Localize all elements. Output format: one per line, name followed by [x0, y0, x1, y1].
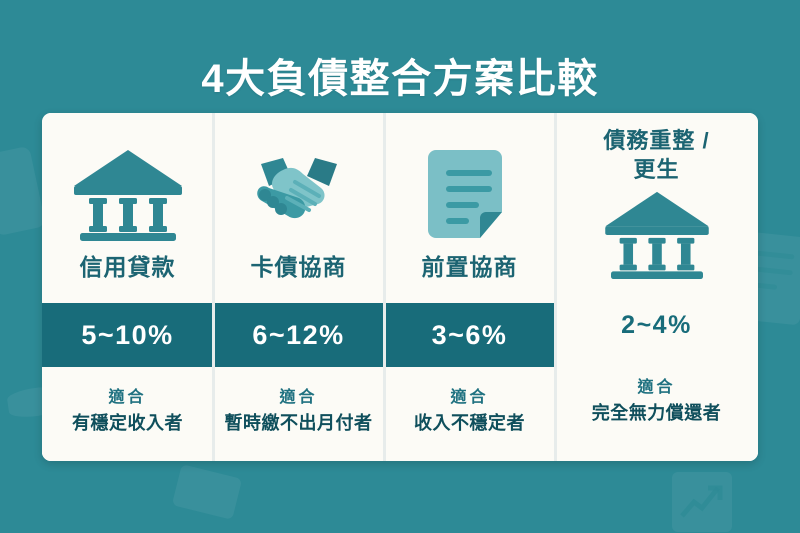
column-label-line1: 債務重整 / [603, 127, 709, 156]
column-label-line2: 更生 [603, 156, 709, 185]
column-header: 前置協商 [384, 113, 555, 303]
suitability-lead: 適合 [637, 376, 675, 400]
column-footer: 適合 完全無力償還者 [555, 347, 758, 461]
bank-icon [599, 186, 715, 282]
interest-rate-band: 6~12% [213, 303, 384, 367]
column-label: 信用貸款 [80, 254, 176, 280]
column-header: 信用貸款 [42, 113, 213, 303]
column-header: 卡債協商 [213, 113, 384, 303]
infographic-canvas: 4大負債整合方案比較 [0, 0, 800, 533]
interest-rate-band: 5~10% [42, 303, 213, 367]
card-watermark-icon [171, 463, 244, 521]
column-footer: 適合 收入不穩定者 [384, 367, 555, 461]
column-footer: 適合 有穩定收入者 [42, 367, 213, 461]
suitability-target: 有穩定收入者 [72, 410, 183, 436]
interest-rate-band: 3~6% [384, 303, 555, 367]
column-footer: 適合 暫時繳不出月付者 [213, 367, 384, 461]
column-header: 債務重整 / 更生 [555, 113, 758, 303]
handshake-icon [239, 142, 359, 246]
column-label: 卡債協商 [251, 254, 347, 280]
column-label: 前置協商 [422, 254, 518, 280]
comparison-card: 信用貸款 5~10% 適合 有穩定收入者 [42, 113, 758, 461]
comparison-column-pre-negotiation[interactable]: 前置協商 3~6% 適合 收入不穩定者 [384, 113, 555, 461]
comparison-column-card-debt-negotiation[interactable]: 卡債協商 6~12% 適合 暫時繳不出月付者 [213, 113, 384, 461]
suitability-target: 收入不穩定者 [414, 410, 525, 436]
suitability-lead: 適合 [279, 386, 317, 410]
column-label: 債務重整 / 更生 [603, 127, 709, 184]
bank-icon [70, 142, 186, 246]
comparison-column-credit-loan[interactable]: 信用貸款 5~10% 適合 有穩定收入者 [42, 113, 213, 461]
suitability-target: 暫時繳不出月付者 [225, 410, 373, 436]
comparison-column-debt-restructuring[interactable]: 債務重整 / 更生 [555, 113, 758, 461]
interest-rate-band: 2~4% [555, 303, 758, 347]
suitability-lead: 適合 [108, 386, 146, 410]
suitability-target: 完全無力償還者 [592, 400, 722, 426]
document-icon [426, 142, 514, 246]
suitability-lead: 適合 [450, 386, 488, 410]
page-title: 4大負債整合方案比較 [0, 55, 800, 103]
chart-up-watermark-icon [672, 472, 732, 532]
